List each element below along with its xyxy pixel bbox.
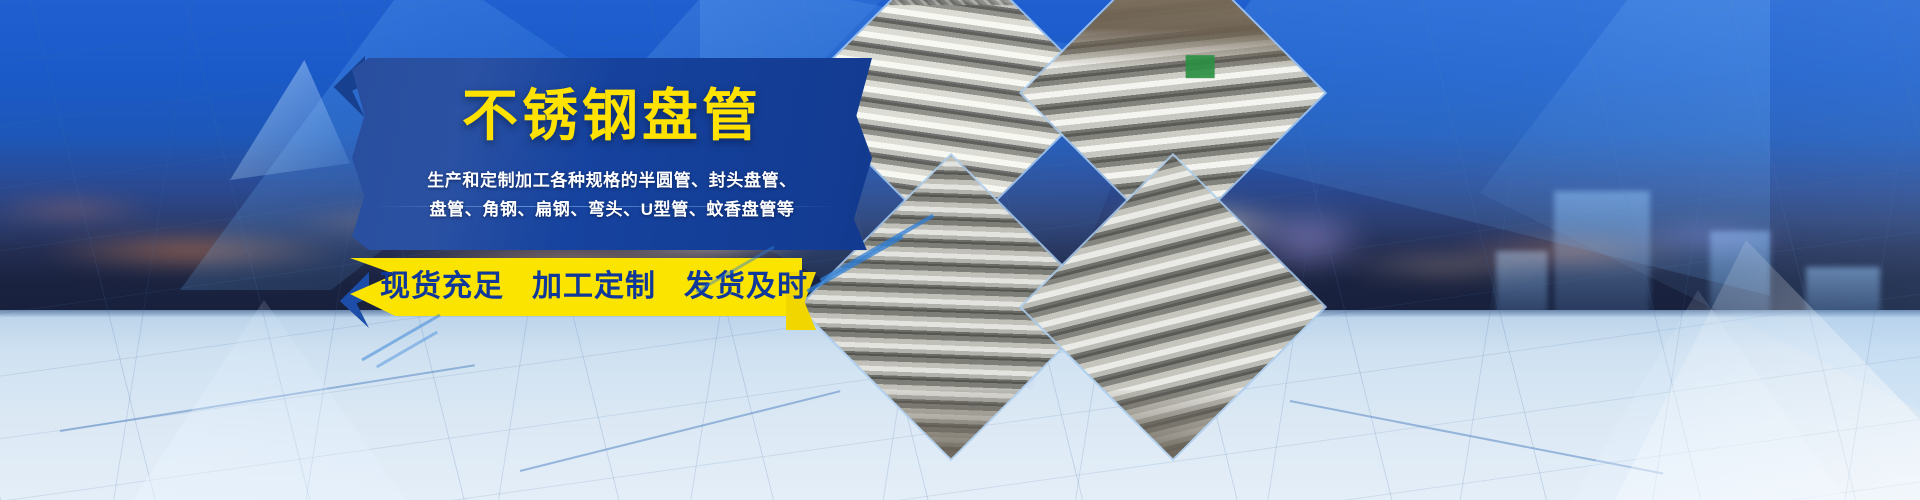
coiled-stainless-pipe-photo — [1022, 156, 1325, 459]
product-hero-banner: 不锈钢盘管 生产和定制加工各种规格的半圆管、封头盘管、 盘管、角钢、扁钢、弯头、… — [0, 0, 1920, 500]
product-photo-collage — [836, 0, 1288, 416]
banner-subtitle-line-2: 盘管、角钢、扁钢、弯头、U型管、蚊香盘管等 — [352, 201, 872, 218]
product-photo-diamond — [1022, 156, 1325, 459]
feature-ribbon-text: 现货充足 加工定制 发货及时 — [380, 272, 800, 302]
photo-gravel-strip — [800, 0, 1103, 4]
banner-subtitle-line-1: 生产和定制加工各种规格的半圆管、封头盘管、 — [352, 172, 872, 189]
banner-headline: 不锈钢盘管 — [352, 88, 872, 144]
photo-green-object — [1186, 55, 1215, 77]
photo-ground-strip — [1022, 0, 1325, 68]
